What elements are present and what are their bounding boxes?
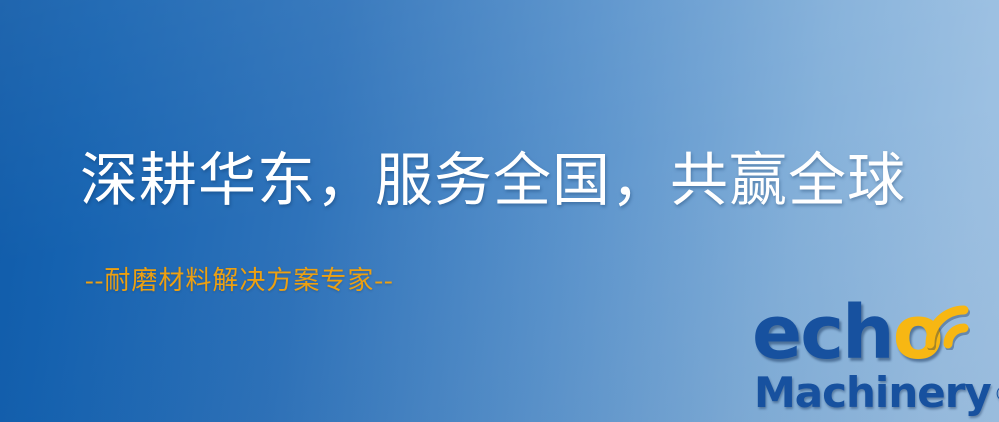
page-title: 深耕华东，服务全国，共赢全球 <box>80 152 906 210</box>
logo-subtext: Machinery <box>754 372 991 414</box>
logo-wordmark-ech: ech <box>752 290 893 376</box>
logo-subtext-group: Machinery ® <box>754 372 999 414</box>
logo-wordmark: echo <box>752 296 942 370</box>
company-logo[interactable]: echo Machinery ® <box>752 296 999 422</box>
registered-trademark-icon: ® <box>994 384 999 404</box>
page-subtitle: --耐磨材料解决方案专家-- <box>85 268 394 294</box>
hero-banner: 深耕华东，服务全国，共赢全球 --耐磨材料解决方案专家-- echo Machi… <box>0 0 999 422</box>
signal-waves-icon <box>918 292 980 350</box>
